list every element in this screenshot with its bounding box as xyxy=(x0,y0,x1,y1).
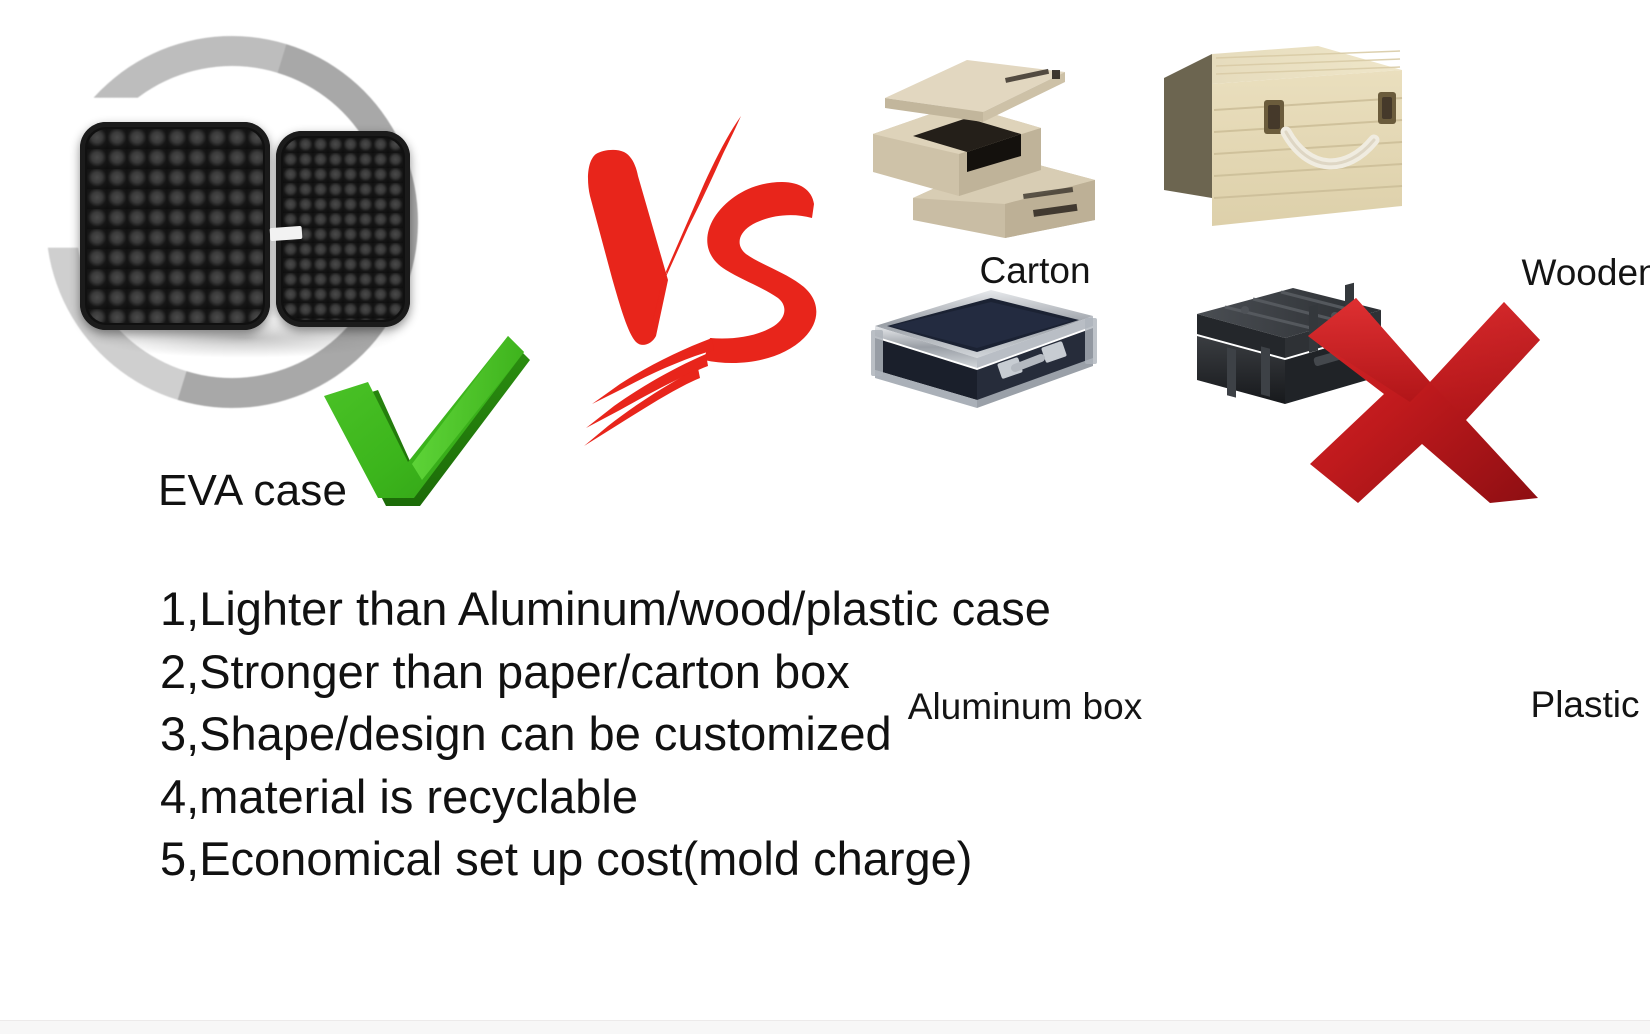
versus-brush-icon xyxy=(528,92,828,462)
wooden-box-label: Wooden box xyxy=(1480,252,1650,294)
feature-item: 4,material is recyclable xyxy=(160,766,1360,829)
eva-case-lid-panel xyxy=(80,122,270,330)
carton-box-icon xyxy=(855,38,1095,238)
red-x-icon xyxy=(1300,298,1540,503)
foam-texture xyxy=(87,129,263,323)
footer-divider xyxy=(0,1020,1650,1034)
feature-item: 3,Shape/design can be customized xyxy=(160,703,1360,766)
alternatives-grid: Carton xyxy=(845,30,1635,500)
eva-case-label: EVA case xyxy=(158,466,347,516)
plastic-case-label: Plastic box xyxy=(1480,684,1650,726)
eva-case-panel: EVA case xyxy=(18,14,538,524)
aluminum-case-cell: Aluminum box xyxy=(865,282,1100,412)
zipper-pull-icon xyxy=(270,226,303,241)
wooden-box-cell: Wooden box xyxy=(1150,40,1410,235)
feature-item: 5,Economical set up cost(mold charge) xyxy=(160,828,1360,891)
eva-foam-case-icon xyxy=(80,122,410,362)
feature-item: 1,Lighter than Aluminum/wood/plastic cas… xyxy=(160,578,1360,641)
slide-canvas: EVA case xyxy=(0,0,1650,1034)
green-check-icon xyxy=(316,330,538,510)
wooden-box-icon xyxy=(1150,40,1410,235)
aluminum-case-icon xyxy=(865,282,1100,412)
feature-item: 2,Stronger than paper/carton box xyxy=(160,641,1360,704)
carton-box-cell: Carton xyxy=(855,38,1095,238)
feature-list: 1,Lighter than Aluminum/wood/plastic cas… xyxy=(160,578,1360,891)
